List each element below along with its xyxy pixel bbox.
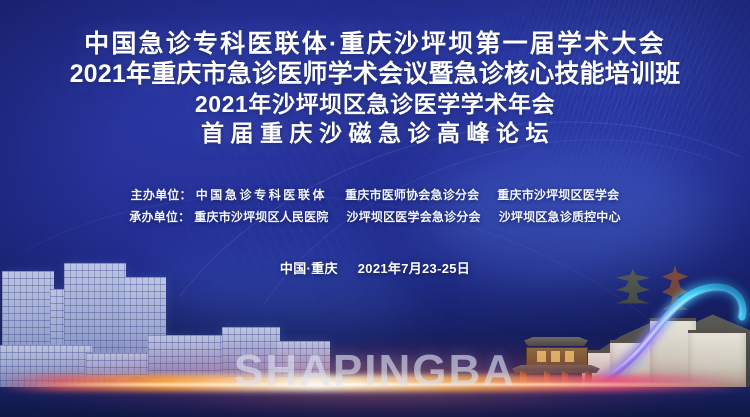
undertaker-org-2: 沙坪坝区医学会急诊分会	[347, 210, 481, 224]
location-and-date: 中国·重庆2021年7月23-25日	[0, 258, 750, 277]
title-line-3: 2021年沙坪坝区急诊医学学术年会	[0, 92, 750, 118]
date-text: 2021年7月23-25日	[358, 261, 470, 276]
title-line-4: 首届重庆沙磁急诊高峰论坛	[0, 121, 750, 147]
title-group: 中国急诊专科医联体·重庆沙坪坝第一届学术大会 2021年重庆市急诊医师学术会议暨…	[0, 0, 750, 147]
host-org-3: 重庆市沙坪坝区医学会	[497, 188, 619, 202]
location-text: 中国·重庆	[280, 261, 338, 276]
title-line-2: 2021年重庆市急诊医师学术会议暨急诊核心技能培训班	[0, 60, 750, 88]
gate-roof-top	[524, 337, 588, 346]
host-org-1: 中国急诊专科医联体	[196, 188, 327, 202]
title-line-1: 中国急诊专科医联体·重庆沙坪坝第一届学术大会	[0, 30, 750, 58]
undertaker-organizers-line: 承办单位：重庆市沙坪坝区人民医院沙坪坝区医学会急诊分会沙坪坝区急诊质控中心	[0, 211, 750, 223]
host-org-2: 重庆市医师协会急诊分会	[345, 188, 479, 202]
undertaker-org-3: 沙坪坝区急诊质控中心	[499, 210, 621, 224]
organizers-block: 主办单位：中国急诊专科医联体重庆市医师协会急诊分会重庆市沙坪坝区医学会 承办单位…	[0, 189, 750, 223]
banner-content: 中国急诊专科医联体·重庆沙坪坝第一届学术大会 2021年重庆市急诊医师学术会议暨…	[0, 0, 750, 277]
host-organizers-line: 主办单位：中国急诊专科医联体重庆市医师协会急诊分会重庆市沙坪坝区医学会	[0, 189, 750, 201]
host-label: 主办单位：	[131, 188, 192, 202]
undertaker-label: 承办单位：	[129, 210, 190, 224]
shapingba-wordmark: SHAPINGBA	[0, 349, 750, 393]
conference-banner: SHAPINGBA 中国急诊专科医联体·重庆沙坪坝第一届学术大会 2021年重庆…	[0, 0, 750, 417]
undertaker-org-1: 重庆市沙坪坝区人民医院	[194, 210, 328, 224]
